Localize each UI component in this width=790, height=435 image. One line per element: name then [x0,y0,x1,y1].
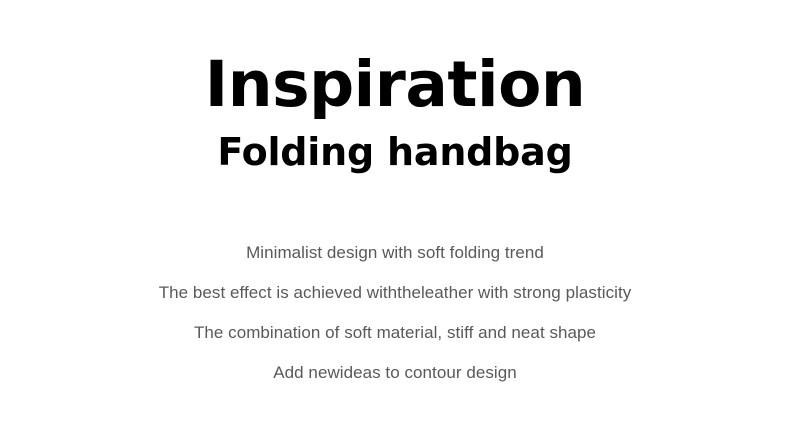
page-subtitle: Folding handbag [0,132,790,173]
body-line: Minimalist design with soft folding tren… [0,233,790,273]
body-line: The combination of soft material, stiff … [0,313,790,353]
body-line: Add newideas to contour design [0,353,790,393]
heading-block: Inspiration Folding handbag [0,52,790,173]
page-title: Inspiration [0,52,790,118]
body-copy-block: Minimalist design with soft folding tren… [0,233,790,393]
inspiration-slide: Inspiration Folding handbag Minimalist d… [0,0,790,435]
body-line: The best effect is achieved withtheleath… [0,273,790,313]
